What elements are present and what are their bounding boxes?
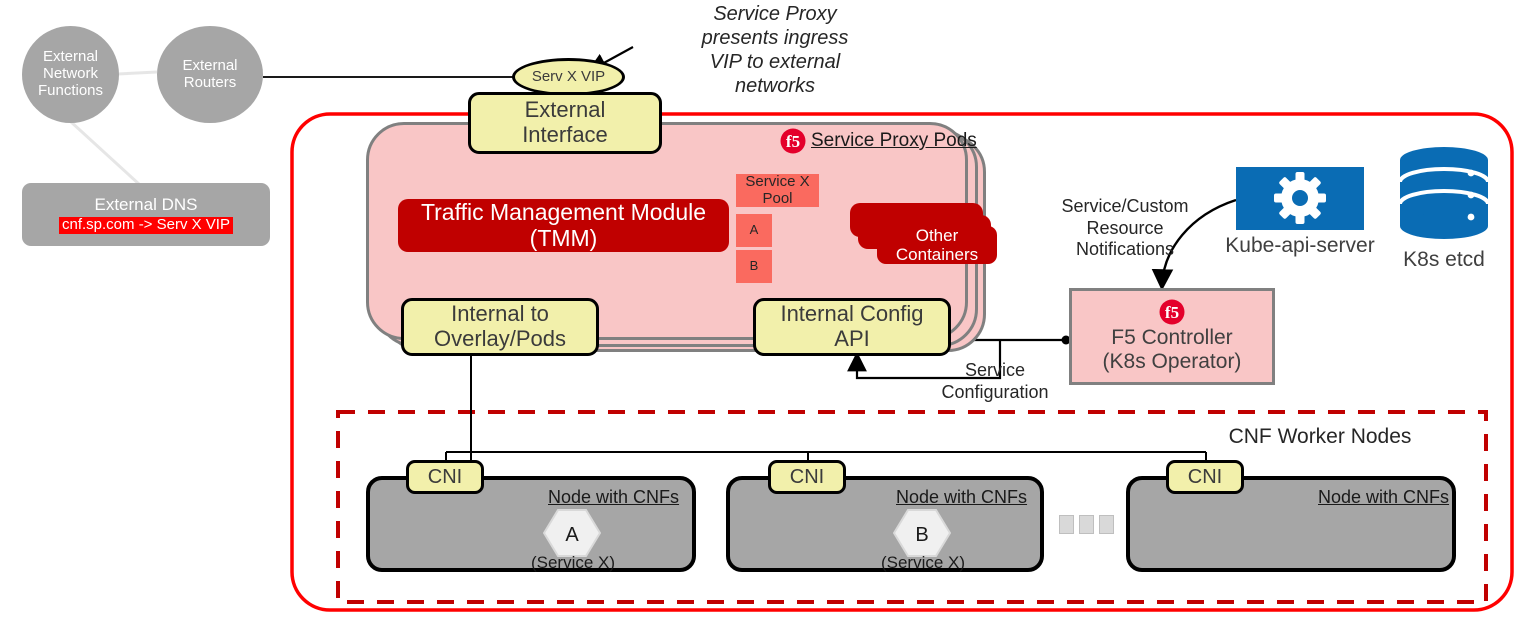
worker-node-1-title: Node with CNFs — [548, 487, 679, 508]
etcd-label: K8s etcd — [1386, 248, 1502, 272]
database-cylinder-icon — [1396, 146, 1492, 244]
serv-x-vip-label: Serv X VIP — [532, 69, 605, 86]
pool-member-a[interactable]: A — [735, 213, 773, 248]
f5-controller-label: F5 Controller (K8s Operator) — [1103, 326, 1242, 373]
svg-text:f5: f5 — [786, 132, 800, 151]
hexagon-icon: B — [893, 508, 951, 558]
pool-member-b[interactable]: B — [735, 249, 773, 284]
worker-node-2-title: Node with CNFs — [896, 487, 1027, 508]
external-routers-label: External Routers — [182, 58, 237, 92]
cni-1-label: CNI — [428, 466, 462, 488]
internal-to-overlay-pods[interactable]: Internal to Overlay/Pods — [401, 298, 599, 356]
etcd-database-icon[interactable] — [1396, 146, 1492, 244]
nf-to-dns-line — [70, 121, 140, 185]
cni-2-label: CNI — [790, 466, 824, 488]
service-configuration-label: Service Configuration — [905, 360, 1085, 403]
external-network-functions[interactable]: External Network Functions — [22, 26, 119, 123]
kube-api-server-icon[interactable] — [1236, 167, 1364, 230]
page-icon-1 — [1059, 515, 1074, 534]
tmm-label: Traffic Management Module (TMM) — [398, 200, 729, 252]
worker-node-2-hex[interactable]: B — [893, 508, 951, 558]
service-x-pool-label: Service X Pool — [745, 174, 809, 208]
cni-3[interactable]: CNI — [1166, 460, 1244, 494]
resource-notifications-label: Service/Custom Resource Notifications — [1030, 196, 1220, 261]
f5-controller-logo-icon: f5 — [1159, 299, 1185, 325]
svg-text:B: B — [915, 524, 928, 546]
pool-member-b-label: B — [750, 259, 759, 274]
external-dns-record: cnf.sp.com -> Serv X VIP — [59, 217, 233, 234]
cnf-worker-nodes-label: CNF Worker Nodes — [1210, 425, 1430, 449]
internal-config-api[interactable]: Internal Config API — [753, 298, 951, 356]
service-proxy-annotation: Service Proxy presents ingress VIP to ex… — [650, 2, 900, 98]
nf-to-router-line — [118, 72, 157, 74]
svg-text:A: A — [565, 524, 579, 546]
worker-node-2-service: (Service X) — [880, 553, 966, 573]
serv-x-vip[interactable]: Serv X VIP — [512, 58, 625, 96]
worker-node-1-service: (Service X) — [530, 553, 616, 573]
service-x-pool[interactable]: Service X Pool — [735, 173, 820, 208]
hexagon-icon: A — [543, 508, 601, 558]
page-icon-3 — [1099, 515, 1114, 534]
external-dns[interactable]: External DNS cnf.sp.com -> Serv X VIP — [22, 183, 270, 246]
gear-icon — [1236, 167, 1364, 230]
external-interface[interactable]: External Interface — [468, 92, 662, 154]
internal-to-overlay-pods-label: Internal to Overlay/Pods — [434, 302, 566, 351]
worker-node-1-hex[interactable]: A — [543, 508, 601, 558]
other-containers[interactable]: Other Containers — [877, 226, 997, 264]
other-containers-label: Other Containers — [896, 226, 978, 264]
cni-1[interactable]: CNI — [406, 460, 484, 494]
cni-2[interactable]: CNI — [768, 460, 846, 494]
diagram-canvas: External Network Functions External Rout… — [0, 0, 1518, 623]
external-interface-label: External Interface — [522, 98, 608, 147]
f5-logo-icon: f5 — [780, 128, 806, 154]
external-network-functions-label: External Network Functions — [38, 49, 103, 99]
service-proxy-pods-heading: f5 Service Proxy Pods — [780, 128, 977, 154]
worker-node-3-title: Node with CNFs — [1318, 487, 1449, 508]
internal-config-api-label: Internal Config API — [780, 302, 923, 351]
service-proxy-pods-title: Service Proxy Pods — [811, 130, 977, 152]
cni-3-label: CNI — [1188, 466, 1222, 488]
f5-controller[interactable]: f5 F5 Controller (K8s Operator) — [1069, 288, 1275, 385]
svg-text:f5: f5 — [1165, 303, 1179, 322]
kube-api-server-label: Kube-api-server — [1216, 234, 1384, 258]
pool-member-a-label: A — [750, 223, 759, 238]
page-icon-2 — [1079, 515, 1094, 534]
external-routers[interactable]: External Routers — [157, 26, 263, 123]
traffic-management-module[interactable]: Traffic Management Module (TMM) — [398, 199, 729, 252]
external-dns-title: External DNS — [95, 195, 198, 214]
